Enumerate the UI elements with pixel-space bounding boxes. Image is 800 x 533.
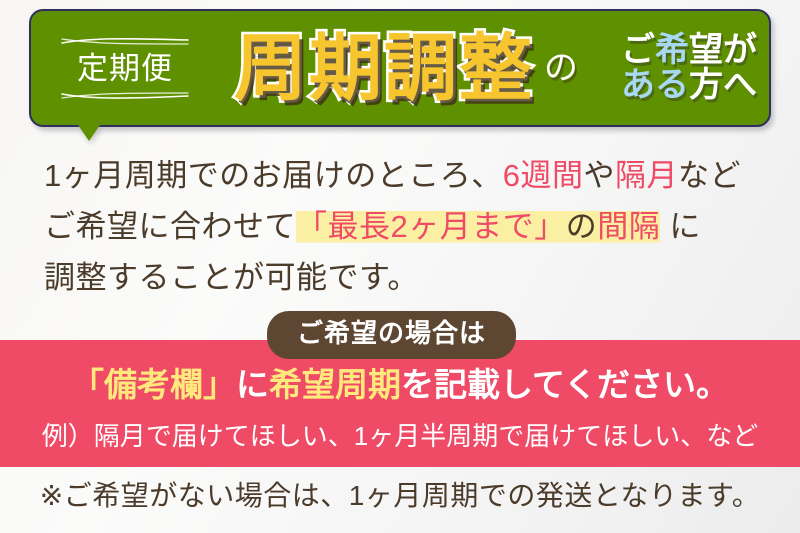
body-line2-highlight-max: 「最長2ヶ月まで」 xyxy=(296,209,566,244)
subtitle-char-a: あ xyxy=(621,66,655,104)
wave-rule-bottom xyxy=(60,91,190,100)
body-line-2: ご希望に合わせて「最長2ヶ月まで」の間隔 に xyxy=(44,201,774,252)
subtitle-char-kata: 方 xyxy=(689,66,723,104)
body-line1-accent-bimonthly: 隔月 xyxy=(615,158,678,193)
pink-headline-tail: を記載してください。 xyxy=(401,366,729,403)
header-particle: の xyxy=(544,51,578,85)
body-line1-accent-6weeks: 6週間 xyxy=(503,158,584,193)
subtitle-char-ru: る xyxy=(655,66,689,104)
pink-headline-cycle: 希望周期 xyxy=(269,366,401,403)
header-callout: 定期便 周期調整 の ご希望が ある方へ xyxy=(0,0,800,150)
header-subtitle-line1: ご希望が xyxy=(621,33,757,68)
header-title-group: 周期調整 の xyxy=(201,32,611,105)
body-line1-lead: 1ヶ月周期でのお届けのところ、 xyxy=(44,158,503,193)
wave-rule-top xyxy=(60,37,190,46)
body-line2-lead: ご希望に合わせて xyxy=(44,209,296,244)
pink-headline: 「備考欄」に希望周期を記載してください。 xyxy=(0,364,800,405)
body-line2-highlight-interval: 間隔 xyxy=(597,209,660,244)
subtitle-char-he: へ xyxy=(723,66,757,104)
subscription-badge: 定期便 xyxy=(49,37,201,100)
promo-banner: 定期便 周期調整 の ご希望が ある方へ 1ヶ月周期でのお届けのところ、6週間や… xyxy=(0,0,800,533)
footer-note: ※ご希望がない場合は、1ヶ月周期での発送となります。 xyxy=(0,478,800,514)
pink-headline-ni: に xyxy=(236,366,269,403)
subtitle-char-ga: が xyxy=(723,31,757,69)
body-line-1: 1ヶ月周期でのお届けのところ、6週間や隔月など xyxy=(44,150,774,201)
subscription-badge-label: 定期便 xyxy=(77,46,173,91)
header-content: 定期便 周期調整 の ご希望が ある方へ xyxy=(29,9,771,127)
body-line1-tail: など xyxy=(678,158,741,193)
subtitle-char-go: ご xyxy=(621,31,655,69)
page-title: 周期調整 xyxy=(234,32,534,105)
subtitle-char-bou: 望 xyxy=(689,31,723,69)
body-line2-highlight-no: の xyxy=(566,209,598,244)
header-subtitle-line2: ある方へ xyxy=(621,68,757,103)
callout-tail xyxy=(78,125,100,141)
body-line-3: 調整することが可能です。 xyxy=(44,252,774,303)
status-badge: ご希望の場合は xyxy=(267,311,516,359)
body-line2-tail: に xyxy=(660,209,701,244)
subtitle-char-ki: 希 xyxy=(655,31,689,69)
header-subtitle: ご希望が ある方へ xyxy=(621,33,757,104)
pink-headline-remarks: 「備考欄」 xyxy=(71,366,236,403)
body-paragraph: 1ヶ月周期でのお届けのところ、6週間や隔月など ご希望に合わせて「最長2ヶ月まで… xyxy=(44,150,774,303)
pink-example-text: 例）隔月で届けてほしい、1ヶ月半周期で届けてほしい、など xyxy=(0,420,800,453)
body-line1-conj: や xyxy=(584,158,616,193)
